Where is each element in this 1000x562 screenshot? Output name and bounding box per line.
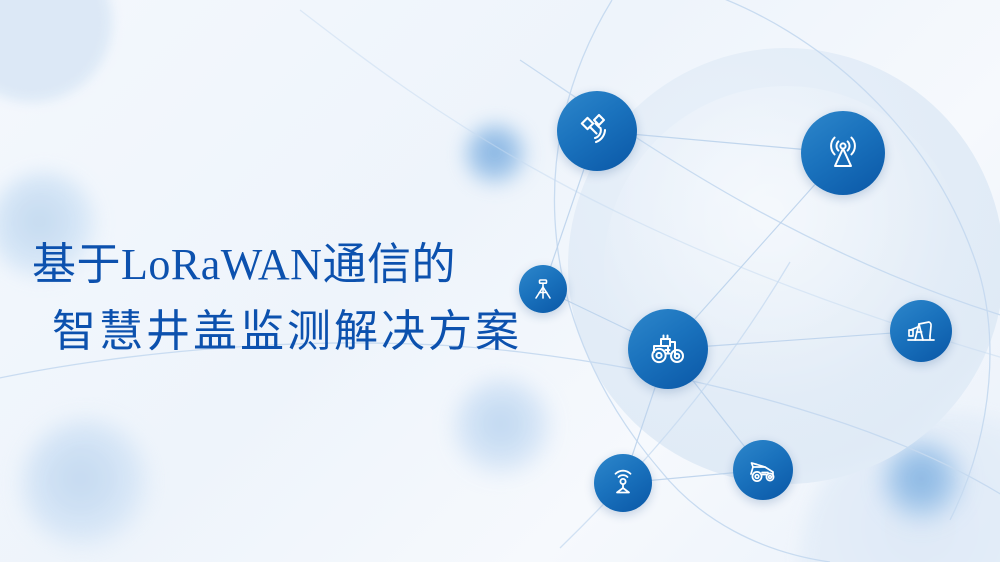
node-broadcast-tower[interactable] [801, 111, 885, 195]
harvester-icon [745, 452, 781, 488]
broadcast-tower-icon [820, 130, 866, 176]
node-tractor[interactable] [628, 309, 708, 389]
node-satellite[interactable] [557, 91, 637, 171]
satellite-signal-icon [575, 109, 619, 153]
title-line-1-latin: LoRaWAN [121, 240, 322, 289]
oil-pumpjack-icon [903, 313, 939, 349]
node-survey-tripod[interactable] [519, 265, 567, 313]
wireless-sensor-icon [606, 466, 640, 500]
title-line-1-suffix: 通信的 [322, 240, 456, 289]
tractor-icon [645, 326, 691, 372]
node-wireless-sensor[interactable] [594, 454, 652, 512]
slide-canvas: 基于LoRaWAN通信的 智慧井盖监测解决方案 [0, 0, 1000, 562]
title-line-1-prefix: 基于 [32, 240, 121, 289]
title-block: 基于LoRaWAN通信的 智慧井盖监测解决方案 [32, 232, 552, 366]
title-line-2: 智慧井盖监测解决方案 [52, 299, 552, 366]
title-line-1: 基于LoRaWAN通信的 [32, 232, 552, 299]
survey-tripod-icon [530, 276, 556, 302]
node-oil-pumpjack[interactable] [890, 300, 952, 362]
node-harvester[interactable] [733, 440, 793, 500]
